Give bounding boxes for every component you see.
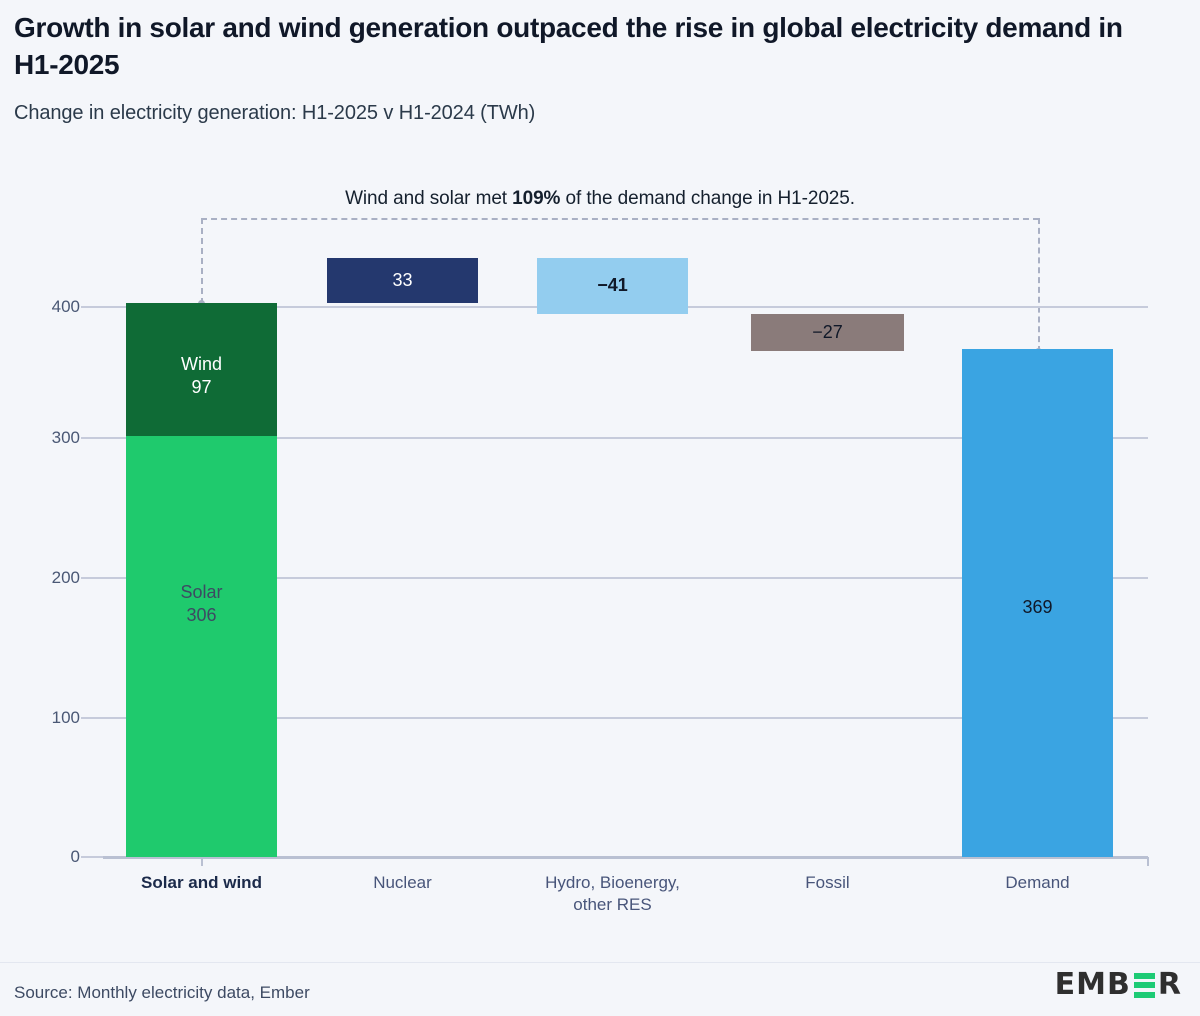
bar-solar[interactable]: Solar 306: [126, 436, 277, 857]
source-note: Source: Monthly electricity data, Ember: [14, 983, 310, 1003]
ember-logo-text-part2: R: [1158, 970, 1182, 1000]
x-axis-label-nuclear: Nuclear: [317, 872, 488, 894]
ytick-stub-300: [81, 437, 103, 439]
chart-annotation: Wind and solar met 109% of the demand ch…: [0, 188, 1200, 210]
x-axis-label-hydro-bioenergy-other-res: Hydro, Bioenergy, other RES: [502, 872, 723, 916]
bar-hydro-bioenergy-other-res-label: −41: [537, 274, 688, 297]
footer-divider: [0, 962, 1200, 963]
ytick-stub-100: [81, 717, 103, 719]
y-axis-label-200: 200: [10, 568, 80, 588]
annotation-suffix: of the demand change in H1-2025.: [560, 188, 855, 209]
chart-plot-area: Wind and solar met 109% of the demand ch…: [0, 0, 1200, 1016]
xtick-solar-and-wind: [201, 857, 203, 866]
x-axis-label-solar-and-wind: Solar and wind: [101, 872, 302, 894]
bar-wind-label: Wind 97: [126, 353, 277, 398]
ember-e-bars-icon: [1134, 973, 1155, 998]
annotation-bracket-left: [201, 218, 203, 304]
bar-demand[interactable]: 369: [962, 349, 1113, 857]
ember-logo-text-part1: EMB: [1055, 970, 1131, 1000]
y-axis-label-0: 0: [10, 847, 80, 867]
x-axis-label-demand: Demand: [952, 872, 1123, 894]
y-axis-label-100: 100: [10, 708, 80, 728]
bar-solar-label: Solar 306: [126, 581, 277, 626]
annotation-bracket-top: [201, 218, 1039, 220]
bar-hydro-bioenergy-other-res[interactable]: −41: [537, 258, 688, 314]
annotation-prefix: Wind and solar met: [345, 188, 512, 209]
bar-fossil[interactable]: −27: [751, 314, 904, 351]
ytick-stub-200: [81, 577, 103, 579]
y-axis-label-300: 300: [10, 428, 80, 448]
annotation-highlight: 109%: [512, 188, 560, 209]
y-axis-label-400: 400: [10, 297, 80, 317]
bar-demand-label: 369: [962, 596, 1113, 619]
bar-nuclear-label: 33: [327, 269, 478, 292]
bar-fossil-label: −27: [751, 321, 904, 344]
xtick-axis-end: [1147, 857, 1149, 866]
annotation-bracket-right: [1038, 218, 1040, 352]
bar-wind[interactable]: Wind 97: [126, 303, 277, 436]
bar-nuclear[interactable]: 33: [327, 258, 478, 303]
ytick-stub-400: [81, 306, 103, 308]
x-axis-label-fossil: Fossil: [742, 872, 913, 894]
ytick-stub-0: [81, 856, 103, 858]
ember-logo: EMB R: [1055, 968, 1182, 1002]
